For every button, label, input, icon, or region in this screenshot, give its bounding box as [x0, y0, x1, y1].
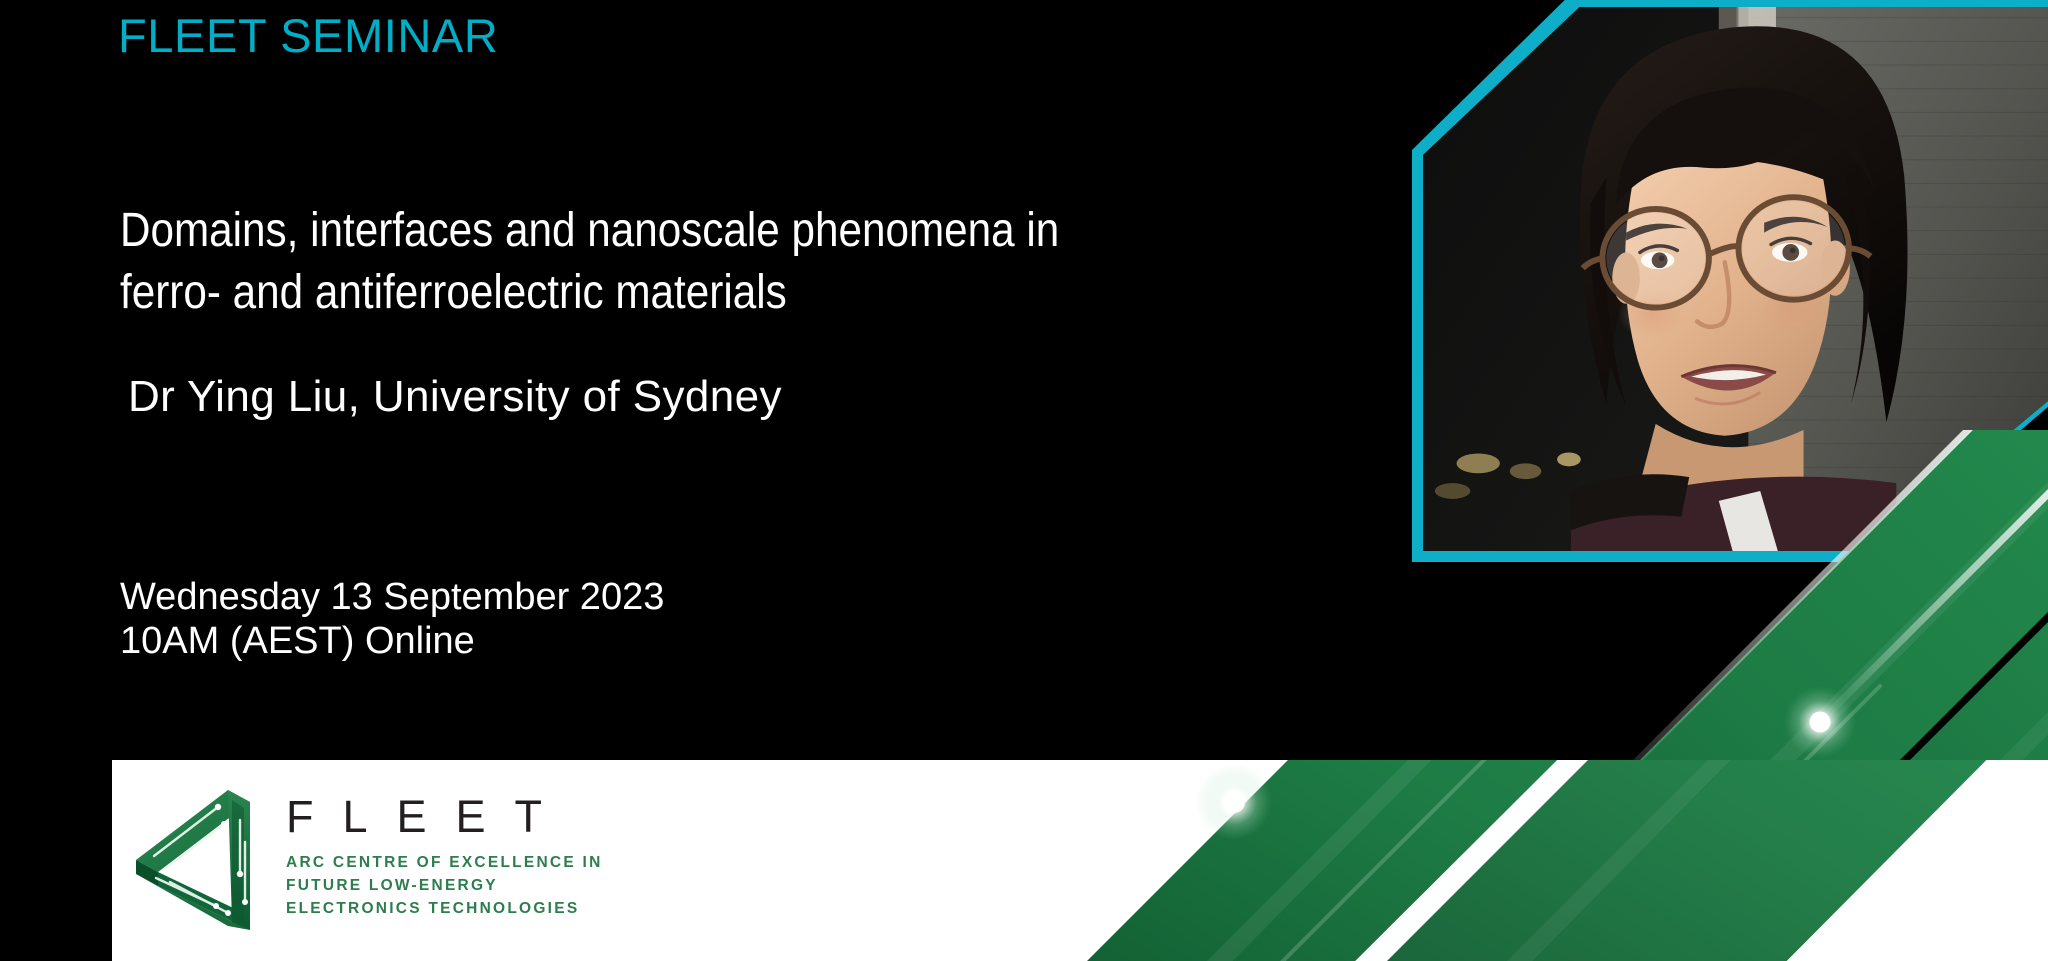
speaker-name: Dr Ying Liu, University of Sydney: [128, 372, 782, 422]
fleet-tagline-line-3: ELECTRONICS TECHNOLOGIES: [286, 898, 603, 921]
fleet-wordmark: FLEET: [286, 794, 603, 839]
footer-green-graphic: [1038, 760, 2048, 961]
event-details: Wednesday 13 September 2023 10AM (AEST) …: [120, 575, 664, 663]
talk-title-line-2: ferro- and antiferroelectric materials: [120, 262, 1211, 324]
footer-bar: FLEET ARC CENTRE OF EXCELLENCE IN FUTURE…: [112, 760, 2048, 961]
talk-title-line-1: Domains, interfaces and nanoscale phenom…: [120, 200, 1211, 262]
fleet-logo: FLEET ARC CENTRE OF EXCELLENCE IN FUTURE…: [132, 782, 603, 934]
fleet-tagline-line-1: ARC CENTRE OF EXCELLENCE IN: [286, 852, 603, 875]
photo-image: [1423, 7, 2048, 551]
seminar-slide: FLEET SEMINAR Domains, interfaces and na…: [0, 0, 2048, 961]
page-title: FLEET SEMINAR: [118, 8, 498, 63]
fleet-triangle-logo-icon: [132, 782, 260, 934]
speaker-photo: [1412, 0, 2048, 562]
event-time: 10AM (AEST) Online: [120, 619, 664, 663]
fleet-logo-text: FLEET ARC CENTRE OF EXCELLENCE IN FUTURE…: [286, 782, 603, 920]
portrait-illustration: [1423, 7, 2048, 551]
fleet-tagline-line-2: FUTURE LOW-ENERGY: [286, 875, 603, 898]
event-date: Wednesday 13 September 2023: [120, 575, 664, 619]
talk-title: Domains, interfaces and nanoscale phenom…: [120, 200, 1211, 324]
fleet-tagline: ARC CENTRE OF EXCELLENCE IN FUTURE LOW-E…: [286, 852, 603, 920]
